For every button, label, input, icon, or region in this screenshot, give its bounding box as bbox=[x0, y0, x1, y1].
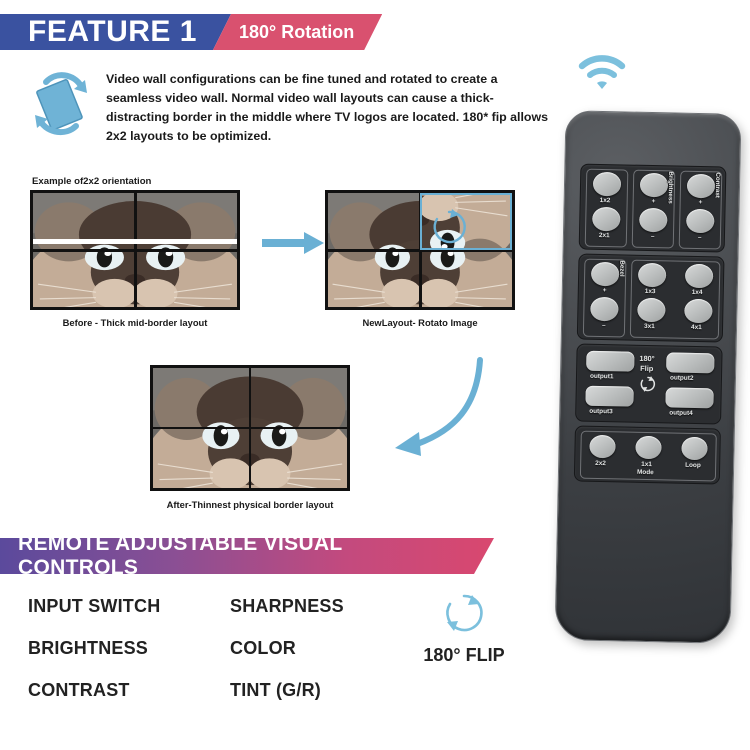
rotation-indicator-icon bbox=[429, 207, 469, 247]
circular-rotate-icon bbox=[443, 592, 485, 634]
label-1x4: 1x4 bbox=[692, 289, 703, 296]
panel-middle: + – Bezel 1x3 1x4 3x1 4x1 bbox=[577, 254, 725, 343]
before-caption: Before - Thick mid-border layout bbox=[30, 317, 240, 328]
screen-cell bbox=[328, 193, 420, 250]
control-item: TINT (G/R) bbox=[230, 680, 344, 701]
screen-cell bbox=[153, 368, 250, 428]
flip-label: 180° FLIP bbox=[404, 645, 524, 666]
control-item: BRIGHTNESS bbox=[28, 638, 160, 659]
grid-divider-horizontal bbox=[328, 249, 512, 252]
control-item: COLOR bbox=[230, 638, 344, 659]
label-loop: Loop bbox=[685, 462, 701, 469]
header-banner: FEATURE 1 180° Rotation bbox=[0, 14, 382, 50]
controls-column-2: SHARPNESS COLOR TINT (G/R) bbox=[230, 596, 344, 722]
button-output4[interactable] bbox=[665, 387, 713, 408]
label-bezel-plus: + bbox=[603, 287, 607, 294]
panel-top: 1x2 2x1 + – Brightness + – Contrast bbox=[579, 164, 727, 253]
button-output2[interactable] bbox=[666, 352, 714, 373]
button-output1[interactable] bbox=[586, 351, 634, 372]
example-section-label: Example of2x2 orientation bbox=[32, 176, 151, 187]
feature-title: FEATURE 1 bbox=[0, 14, 231, 50]
screen-cell bbox=[250, 368, 347, 428]
controls-column-1: INPUT SWITCH BRIGHTNESS CONTRAST bbox=[28, 596, 160, 722]
label-flip-text: Flip bbox=[640, 364, 653, 373]
arrow-curved-down-icon bbox=[385, 348, 495, 468]
button-output3[interactable] bbox=[585, 386, 633, 407]
control-item: CONTRAST bbox=[28, 680, 160, 701]
video-wall-final: After-Thinnest physical border layout bbox=[150, 365, 350, 510]
circular-rotate-icon bbox=[639, 375, 657, 393]
label-mode: Mode bbox=[637, 469, 654, 476]
label-1x3: 1x3 bbox=[645, 288, 656, 295]
label-1x2: 1x2 bbox=[600, 197, 611, 204]
label-4x1: 4x1 bbox=[691, 324, 702, 331]
label-2x2: 2x2 bbox=[595, 460, 606, 467]
feature-subtitle: 180° Rotation bbox=[213, 14, 382, 50]
label-output1: output1 bbox=[590, 373, 614, 380]
video-wall-before: Before - Thick mid-border layout bbox=[30, 190, 240, 328]
intro-block: Video wall configurations can be fine tu… bbox=[30, 66, 550, 145]
remote-button-face: 1x2 2x1 + – Brightness + – Contrast bbox=[564, 163, 732, 566]
thick-border-band bbox=[33, 239, 237, 244]
feature-infographic-page: FEATURE 1 180° Rotation Video wall confi… bbox=[0, 0, 750, 750]
remote-control: 1x2 2x1 + – Brightness + – Contrast bbox=[554, 110, 741, 644]
rotate-rectangle-icon bbox=[30, 66, 92, 138]
panel-mode: 2x2 1x1 Loop Mode bbox=[574, 425, 721, 484]
grid-divider-horizontal bbox=[153, 427, 347, 429]
label-bezel-minus: – bbox=[602, 322, 606, 329]
label-brightness: Brightness bbox=[667, 171, 675, 203]
control-item: SHARPNESS bbox=[230, 596, 344, 617]
arrow-right-icon bbox=[262, 230, 326, 256]
label-contrast: Contrast bbox=[714, 172, 722, 198]
label-output3: output3 bbox=[589, 408, 613, 415]
screen-cell bbox=[420, 250, 512, 307]
wifi-signal-icon bbox=[578, 54, 626, 90]
label-3x1: 3x1 bbox=[644, 323, 655, 330]
final-caption: After-Thinnest physical border layout bbox=[150, 499, 350, 510]
screen-cell bbox=[153, 428, 250, 488]
video-wall-rotated: NewLayout- Rotato Image bbox=[325, 190, 515, 328]
screen-cell bbox=[33, 250, 135, 307]
label-1x1: 1x1 bbox=[641, 461, 652, 468]
label-2x1: 2x1 bbox=[599, 232, 610, 239]
intro-paragraph: Video wall configurations can be fine tu… bbox=[106, 66, 550, 145]
label-output2: output2 bbox=[670, 374, 694, 381]
label-contrast-minus: – bbox=[698, 234, 702, 241]
label-contrast-plus: + bbox=[699, 199, 703, 206]
screen-cell bbox=[328, 250, 420, 307]
label-brightness-minus: – bbox=[651, 233, 655, 240]
panel-outputs: output1 output2 output3 output4 180° Fli… bbox=[575, 343, 723, 424]
bottom-banner-title: REMOTE ADJUSTABLE VISUAL CONTROLS bbox=[0, 538, 494, 574]
label-output4: output4 bbox=[669, 409, 693, 416]
grid-divider-horizontal bbox=[33, 249, 237, 252]
label-brightness-plus: + bbox=[652, 198, 656, 205]
screen-cell bbox=[135, 250, 237, 307]
label-flip-degrees: 180° bbox=[639, 354, 654, 363]
control-item: INPUT SWITCH bbox=[28, 596, 160, 617]
flip-feature-group: 180° FLIP bbox=[404, 592, 524, 666]
label-bezel: Bezel bbox=[618, 260, 625, 276]
rotated-caption: NewLayout- Rotato Image bbox=[325, 317, 515, 328]
screen-cell bbox=[250, 428, 347, 488]
